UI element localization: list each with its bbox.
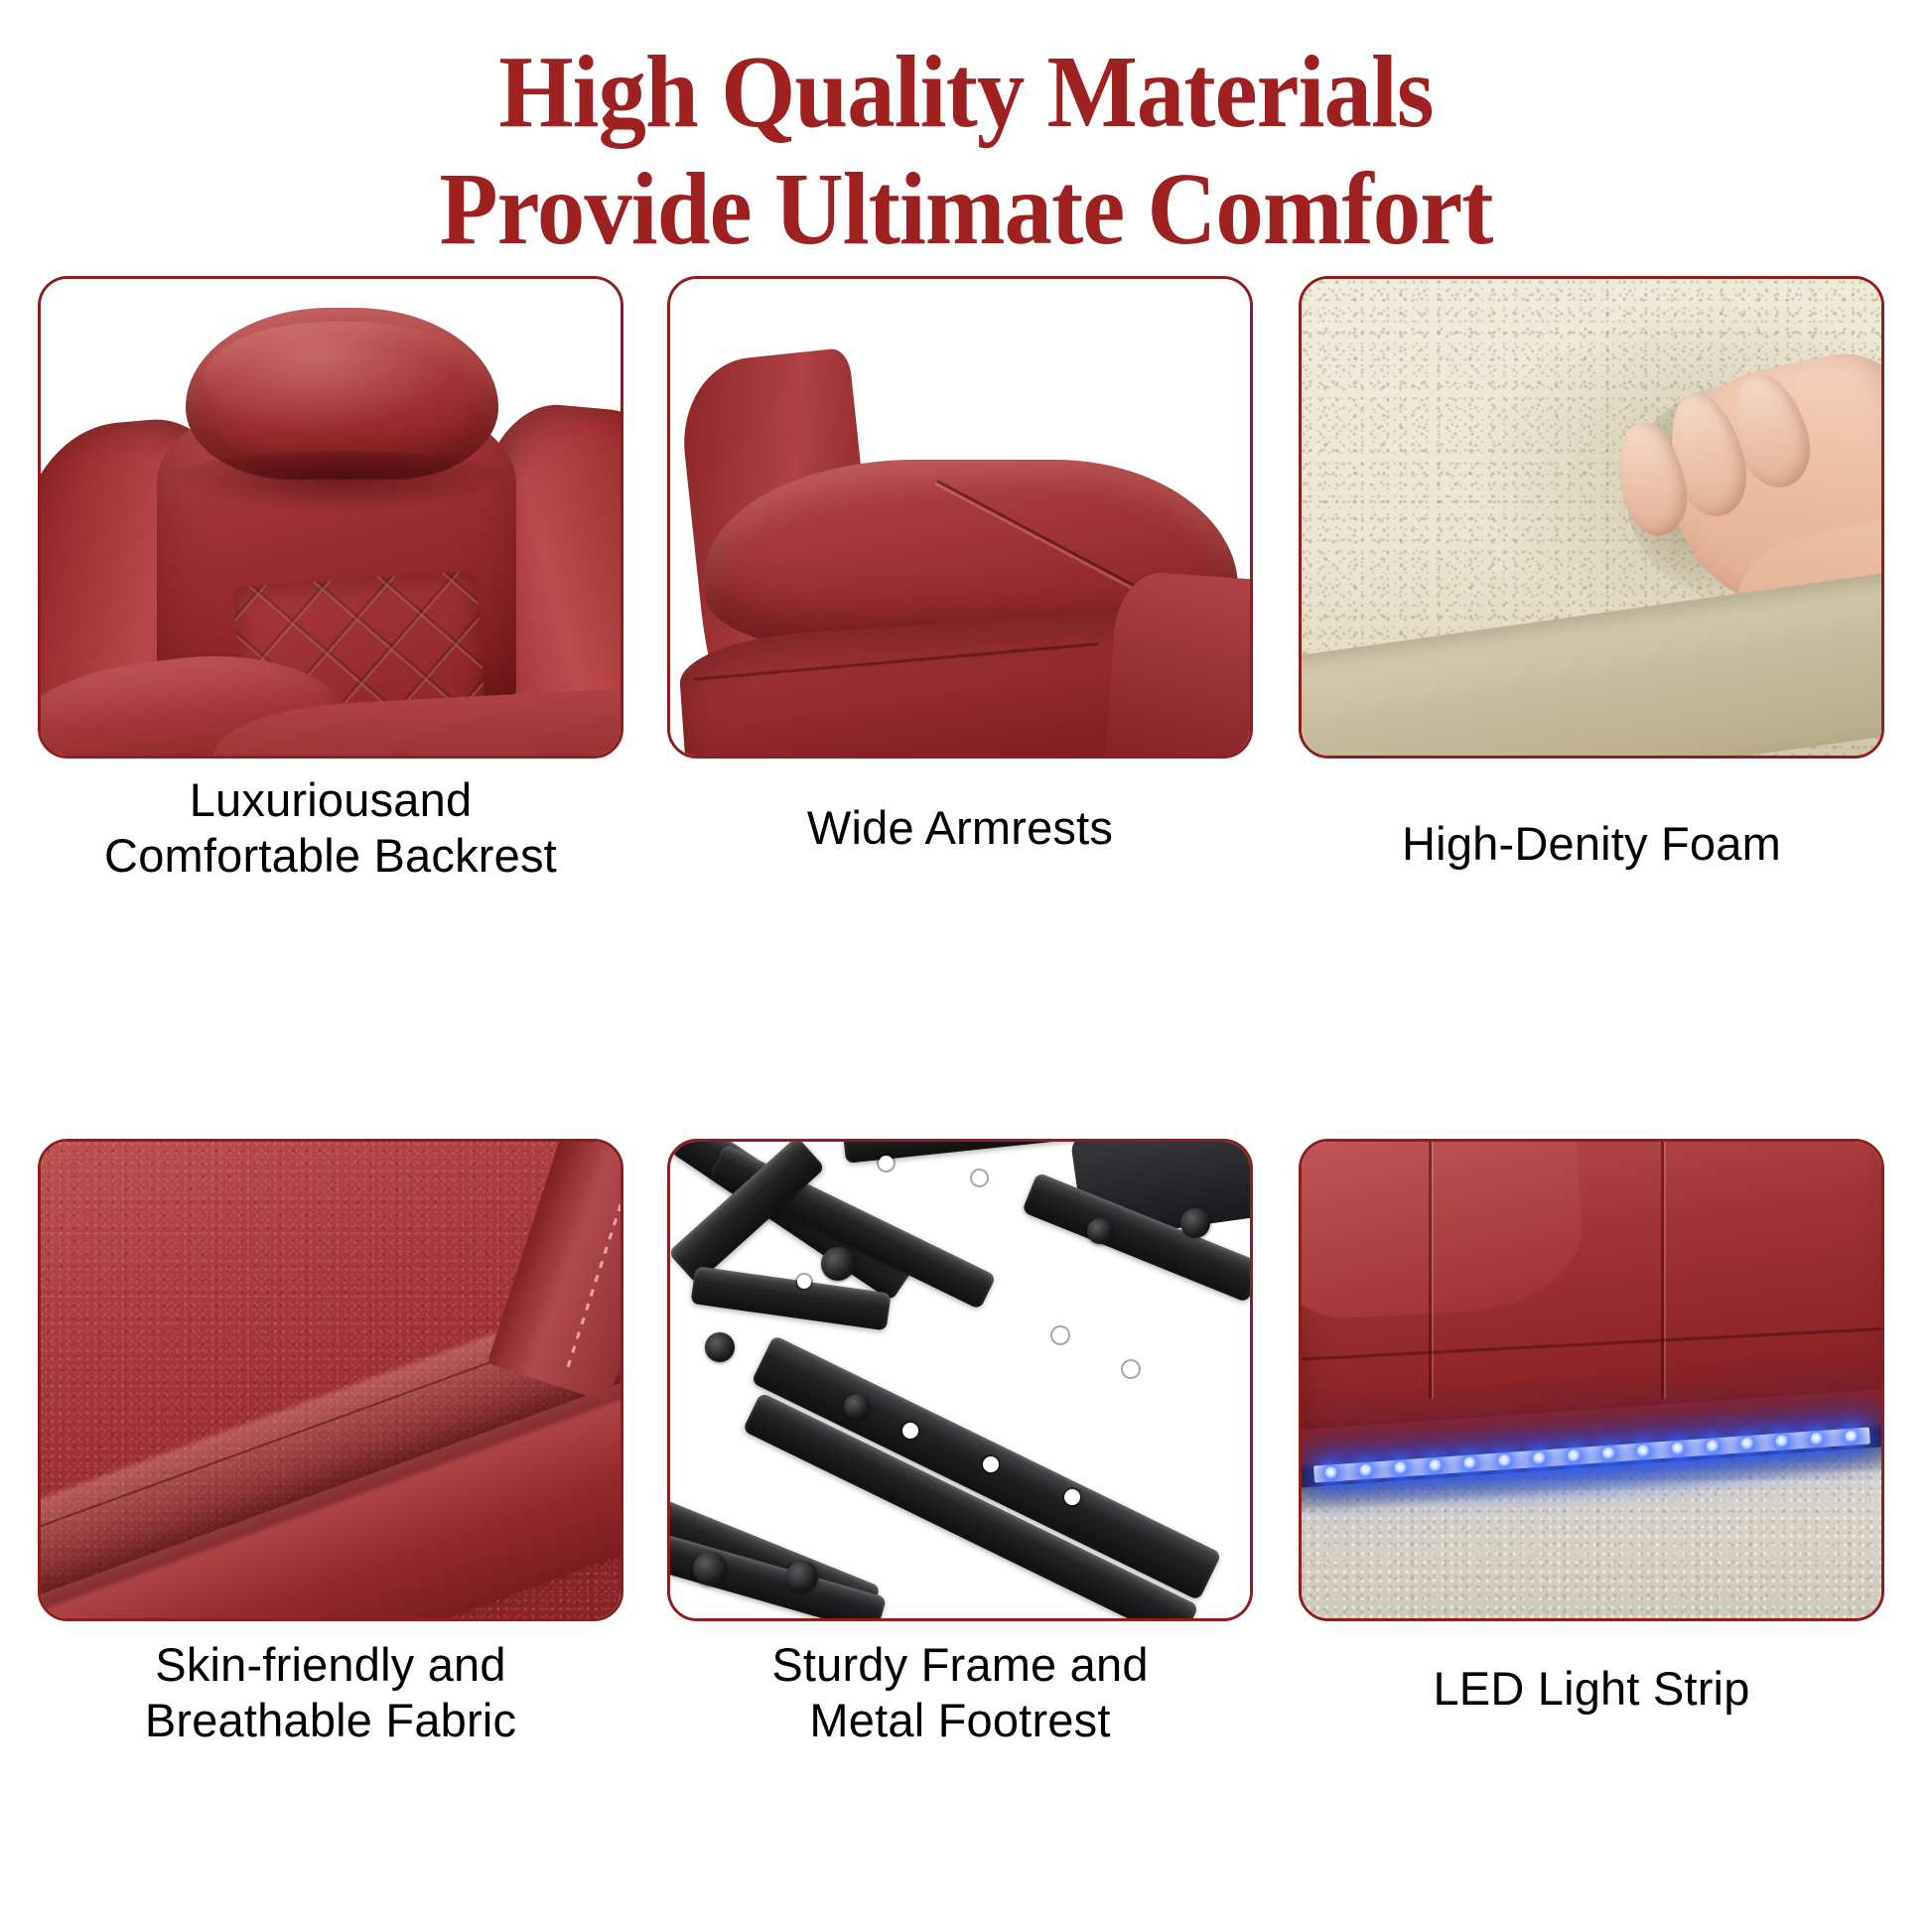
caption-armrest: Wide Armrests bbox=[667, 800, 1253, 856]
frame-hole-4 bbox=[902, 1423, 918, 1439]
led-dot bbox=[1498, 1454, 1512, 1468]
led-dot bbox=[1671, 1443, 1685, 1456]
frame-hole-2 bbox=[972, 1171, 987, 1185]
recliner-seam-vertical-2 bbox=[1661, 1142, 1664, 1399]
led-dot bbox=[1706, 1440, 1720, 1453]
caption-armrest-line-1: Wide Armrests bbox=[667, 800, 1253, 856]
panel-image-frame bbox=[667, 1139, 1253, 1621]
caption-fabric-line-1: Skin-friendly and bbox=[38, 1637, 623, 1693]
photo-backrest bbox=[41, 279, 621, 756]
photo-armrest bbox=[670, 279, 1250, 756]
photo-led bbox=[1302, 1142, 1881, 1618]
caption-frame: Sturdy Frame and Metal Footrest bbox=[667, 1637, 1253, 1749]
led-dot bbox=[1568, 1449, 1582, 1463]
caption-fabric: Skin-friendly and Breathable Fabric bbox=[38, 1637, 623, 1749]
frame-hole-8 bbox=[1052, 1327, 1068, 1343]
led-dot bbox=[1636, 1445, 1650, 1458]
caption-frame-line-1: Sturdy Frame and bbox=[667, 1637, 1253, 1693]
recliner-seam-vertical-1 bbox=[1429, 1142, 1432, 1399]
led-dot bbox=[1740, 1438, 1754, 1451]
caption-backrest: Luxuriousand Comfortable Backrest bbox=[38, 772, 623, 885]
feature-card-led: LED Light Strip bbox=[1299, 1139, 1884, 1893]
caption-foam: High-Denity Foam bbox=[1299, 816, 1884, 872]
panel-image-backrest bbox=[38, 276, 623, 759]
frame-bolt-3 bbox=[1180, 1208, 1210, 1238]
panel-image-armrest bbox=[667, 276, 1253, 759]
caption-fabric-line-2: Breathable Fabric bbox=[38, 1693, 623, 1748]
feature-card-armrest: Wide Armrests bbox=[667, 276, 1253, 1070]
feature-card-frame: Sturdy Frame and Metal Footrest bbox=[667, 1139, 1253, 1893]
frame-bolt-1 bbox=[821, 1247, 855, 1281]
panel-image-fabric bbox=[38, 1139, 623, 1621]
frame-bolt-6 bbox=[786, 1561, 818, 1592]
frame-bolt-2 bbox=[705, 1332, 735, 1362]
infographic-page: High Quality Materials Provide Ultimate … bbox=[0, 0, 1932, 1932]
led-dot bbox=[1463, 1456, 1477, 1470]
feature-card-foam: High-Denity Foam bbox=[1299, 276, 1884, 1070]
caption-backrest-line-1: Luxuriousand bbox=[38, 772, 623, 828]
led-dot bbox=[1429, 1459, 1443, 1473]
panel-image-led bbox=[1299, 1139, 1884, 1621]
frame-bolt-5 bbox=[693, 1552, 727, 1586]
headrest-shadow bbox=[168, 451, 515, 512]
led-dot bbox=[1359, 1464, 1373, 1478]
frame-hole-7 bbox=[1123, 1361, 1139, 1377]
led-dot bbox=[1810, 1433, 1824, 1447]
photo-frame bbox=[670, 1142, 1250, 1618]
feature-grid: Luxuriousand Comfortable Backrest Wide A… bbox=[0, 0, 1932, 1932]
armrest-side-panel bbox=[1104, 570, 1250, 756]
feature-card-backrest: Luxuriousand Comfortable Backrest bbox=[38, 276, 623, 1070]
led-dot bbox=[1533, 1452, 1547, 1466]
caption-frame-line-2: Metal Footrest bbox=[667, 1693, 1253, 1748]
frame-hole-1 bbox=[879, 1156, 894, 1171]
caption-led-line-1: LED Light Strip bbox=[1299, 1661, 1884, 1717]
photo-foam bbox=[1302, 279, 1881, 756]
led-dot bbox=[1775, 1435, 1789, 1449]
led-dot bbox=[1845, 1431, 1859, 1445]
led-dot bbox=[1601, 1448, 1615, 1461]
led-dot bbox=[1324, 1466, 1338, 1480]
feature-card-fabric: Skin-friendly and Breathable Fabric bbox=[38, 1139, 623, 1893]
panel-image-foam bbox=[1299, 276, 1884, 759]
led-dot bbox=[1394, 1461, 1408, 1475]
caption-foam-line-1: High-Denity Foam bbox=[1299, 816, 1884, 872]
photo-fabric bbox=[41, 1142, 621, 1618]
caption-backrest-line-2: Comfortable Backrest bbox=[38, 828, 623, 884]
caption-led: LED Light Strip bbox=[1299, 1661, 1884, 1717]
